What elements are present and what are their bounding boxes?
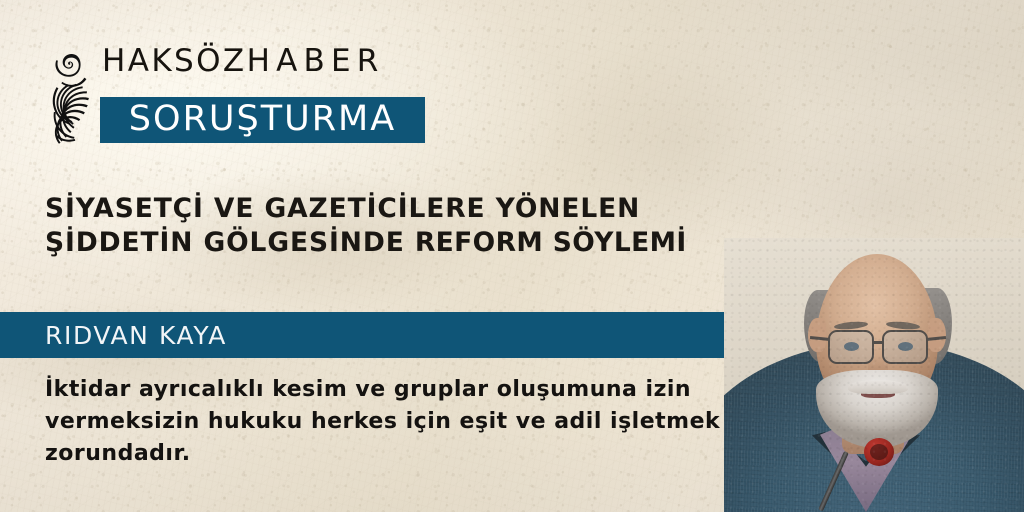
section-label-bar: SORUŞTURMA: [100, 97, 425, 143]
author-name: RIDVAN KAYA: [45, 323, 227, 348]
brand-wordmark: HAKSÖZHABER: [102, 46, 384, 77]
haksoz-calligraphy-mark-icon: [44, 50, 96, 146]
author-portrait-photo: [724, 238, 1024, 512]
author-bar: RIDVAN KAYA: [0, 312, 810, 358]
brand-logo-block[interactable]: HAKSÖZHABER SORUŞTURMA: [44, 44, 444, 150]
quote-text: İktidar ayrıcalıklı kesim ve gruplar olu…: [45, 374, 725, 470]
headline-line-2-regular: ŞİDDETİN GÖLGESİNDE: [45, 227, 415, 258]
article-quote-card: HAKSÖZHABER SORUŞTURMA SİYASETÇİ VE GAZE…: [0, 0, 1024, 512]
portrait-grain: [724, 238, 1024, 512]
wordmark-haksoz: HAKSÖZ: [102, 43, 247, 79]
wordmark-haber: HABER: [247, 43, 385, 79]
page-title: SİYASETÇİ VE GAZETİCİLERE YÖNELEN ŞİDDET…: [45, 192, 735, 260]
section-label-text: SORUŞTURMA: [129, 102, 396, 139]
headline-line-2-strong: REFORM SÖYLEMİ: [415, 227, 687, 258]
headline-line-1: SİYASETÇİ VE GAZETİCİLERE YÖNELEN: [45, 193, 640, 224]
